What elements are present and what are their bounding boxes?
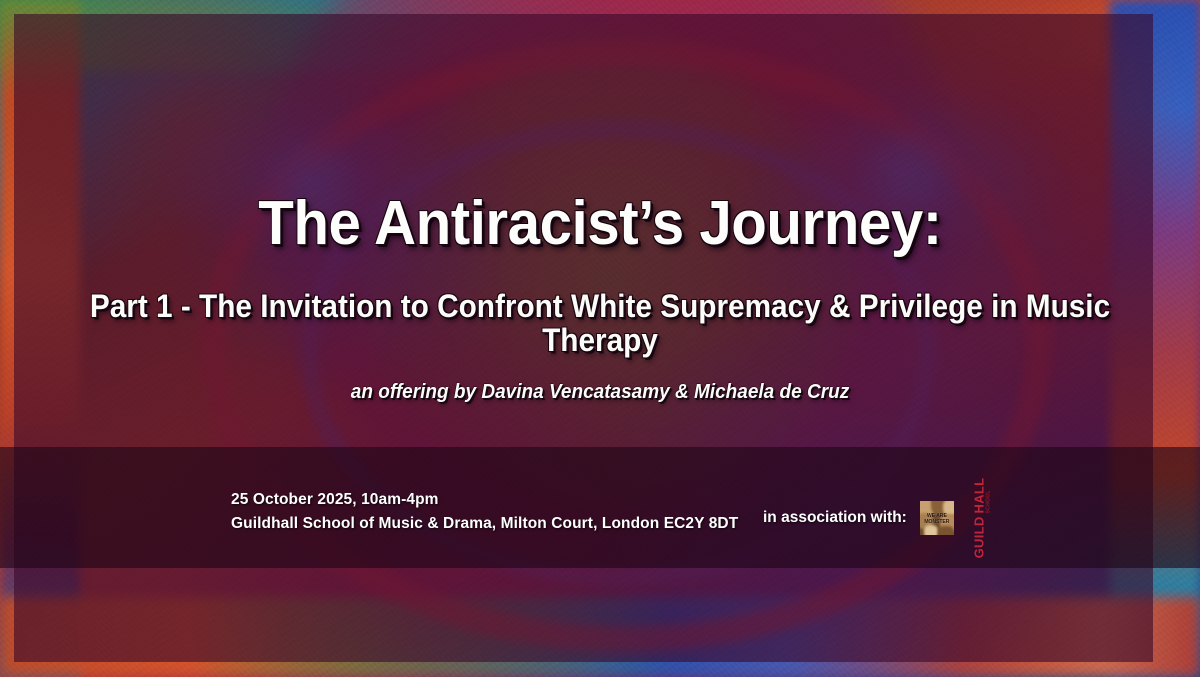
guildhall-word-hall: HALL — [972, 478, 985, 514]
guildhall-word-guild: GUILD — [972, 516, 985, 558]
guildhall-word-school: SCHOOL — [986, 478, 991, 514]
we-are-monster-logo[interactable]: WE ARE MONSTER — [920, 501, 954, 535]
page-title: The Antiracist’s Journey: — [36, 193, 1164, 255]
association-label: in association with: — [763, 509, 907, 527]
event-poster: The Antiracist’s Journey: Part 1 - The I… — [0, 0, 1200, 677]
we-are-monster-logo-text: WE ARE MONSTER — [920, 514, 954, 526]
poster-subtitle: Part 1 - The Invitation to Confront Whit… — [42, 290, 1158, 357]
poster-content: The Antiracist’s Journey: Part 1 - The I… — [0, 0, 1200, 677]
guildhall-wordmark: GUILD HALL SCHOOL — [972, 478, 991, 559]
logo-line-3: MONSTER — [924, 519, 949, 525]
collage-tile — [938, 526, 954, 535]
details-band-content: 25 October 2025, 10am-4pm Guildhall Scho… — [0, 447, 1200, 568]
association-block: in association with: WE ARE MONSTER GUIL… — [763, 496, 997, 540]
event-details: 25 October 2025, 10am-4pm Guildhall Scho… — [231, 488, 738, 536]
event-date-time: 25 October 2025, 10am-4pm — [231, 488, 738, 512]
collage-tile — [924, 525, 938, 535]
poster-byline: an offering by Davina Vencatasamy & Mich… — [30, 381, 1170, 404]
guildhall-logo[interactable]: GUILD HALL SCHOOL — [967, 496, 997, 540]
event-venue: Guildhall School of Music & Drama, Milto… — [231, 512, 738, 536]
